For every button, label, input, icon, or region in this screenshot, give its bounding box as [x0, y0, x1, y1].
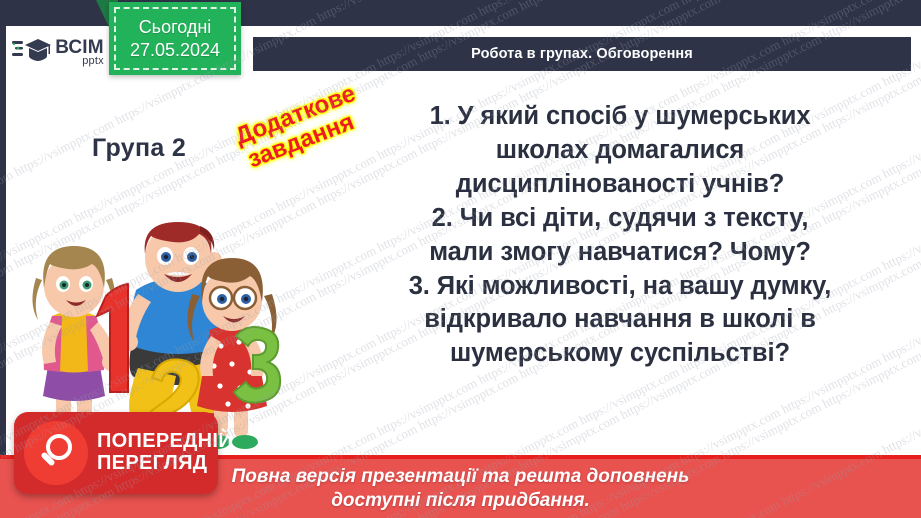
girl-left [32, 246, 120, 432]
question-line: шумерському суспільстві? [322, 337, 918, 371]
left-navy-strip [0, 26, 6, 466]
slide-canvas: ВСІМ pptx Сьогодні 27.05.2024 Робота в г… [0, 0, 921, 518]
group-label: Група 2 [92, 134, 186, 163]
question-line: школах домагалися [322, 134, 918, 168]
date-badge-value: 27.05.2024 [130, 39, 220, 62]
magnifier-icon [24, 421, 88, 485]
question-line: 2. Чи всі діти, судячи з тексту, [322, 202, 918, 236]
preview-badge-line1: ПОПЕРЕДНІЙ [97, 431, 233, 453]
question-line: 1. У який спосіб у шумерських [322, 100, 918, 134]
purchase-notice-line1: Повна версія презентації та решта доповн… [232, 465, 690, 488]
purchase-notice-line2: доступні після придбання. [331, 489, 590, 512]
preview-badge-line2: ПЕРЕГЛЯД [97, 453, 233, 475]
graduation-cap-icon [12, 35, 52, 70]
question-line: мали змогу навчатися? Чому? [322, 236, 918, 270]
brand-logo[interactable]: ВСІМ pptx [6, 26, 110, 78]
question-line: відкривало навчання в школі в [322, 303, 918, 337]
question-line: 3. Які можливості, на вашу думку, [322, 270, 918, 304]
date-badge-label: Сьогодні [139, 16, 212, 39]
slide-header-bar: Робота в групах. Обговорення [253, 37, 911, 71]
question-line: дисциплінованості учнів? [322, 168, 918, 202]
questions-block: 1. У який спосіб у шумерських школах дом… [322, 100, 918, 371]
page-title: Робота в групах. Обговорення [471, 46, 693, 62]
date-badge: Сьогодні 27.05.2024 [109, 2, 241, 75]
preview-badge[interactable]: ПОПЕРЕДНІЙ ПЕРЕГЛЯД [14, 412, 218, 494]
